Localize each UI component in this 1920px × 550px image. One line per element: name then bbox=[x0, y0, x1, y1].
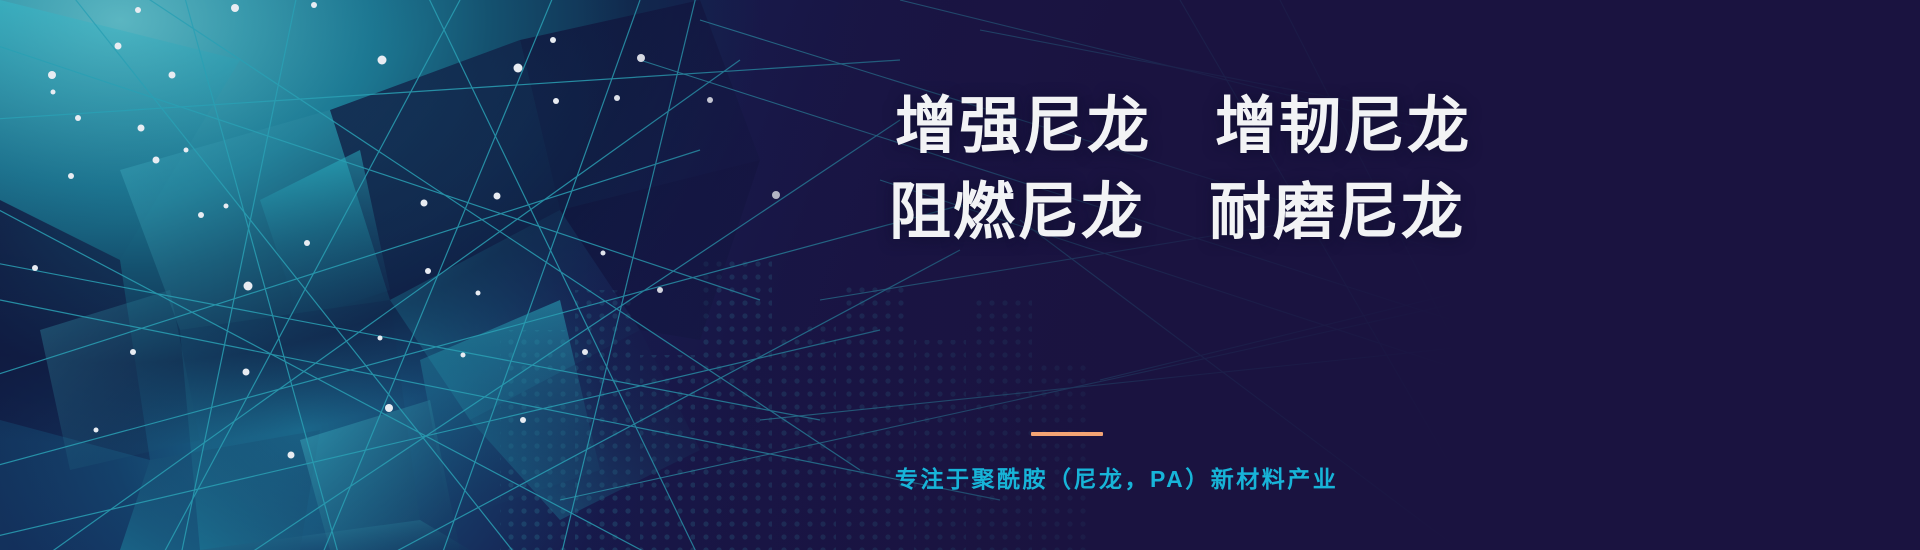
hero-banner: 增强尼龙 增韧尼龙 阻燃尼龙 耐磨尼龙 专注于聚酰胺（尼龙，PA）新材料产业 bbox=[0, 0, 1920, 550]
headline-line-2: 阻燃尼龙 耐磨尼龙 bbox=[889, 170, 1595, 256]
tagline: 专注于聚酰胺（尼龙，PA）新材料产业 bbox=[895, 460, 1635, 494]
headline-line-1: 增强尼龙 增韧尼龙 bbox=[895, 84, 1595, 170]
banner-content: 增强尼龙 增韧尼龙 阻燃尼龙 耐磨尼龙 专注于聚酰胺（尼龙，PA）新材料产业 bbox=[895, 0, 1655, 550]
headline-block: 增强尼龙 增韧尼龙 阻燃尼龙 耐磨尼龙 bbox=[895, 84, 1595, 256]
accent-divider bbox=[1031, 432, 1103, 436]
